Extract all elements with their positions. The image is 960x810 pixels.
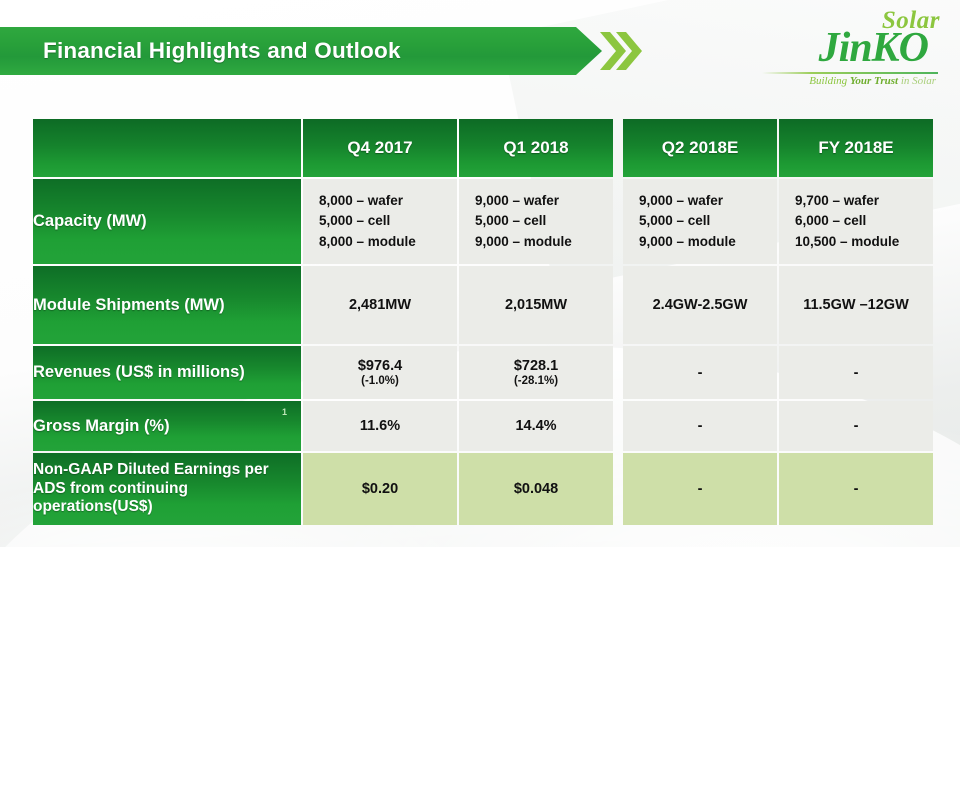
logo-tagline-post: in Solar [898, 75, 936, 87]
cell-line: 9,000 – wafer [639, 191, 777, 211]
column-gap [615, 179, 621, 264]
cell-line: 9,000 – wafer [475, 191, 613, 211]
cell-shipments-fy-2018e: 11.5GW –12GW [779, 266, 933, 344]
logo-tagline: Building Your Trust in Solar [809, 75, 936, 87]
cell-line: 6,000 – cell [795, 211, 933, 231]
cell-value: $728.1 [514, 358, 558, 374]
cell-revenues-q1-2018: $728.1 (-28.1%) [459, 346, 613, 399]
cell-line: 9,000 – module [475, 232, 613, 252]
row-label-text: Module Shipments (MW) [33, 296, 225, 314]
logo-tagline-pre: Building [809, 75, 850, 87]
double-chevron-right-icon [598, 29, 642, 73]
cell-gross-margin-q4-2017: 11.6% [303, 401, 457, 451]
cell-line: 8,000 – wafer [319, 191, 457, 211]
row-label-gross-margin: Gross Margin (%) 1 [33, 401, 301, 451]
page-title: Financial Highlights and Outlook [43, 27, 401, 75]
cell-non-gaap-q1-2018: $0.048 [459, 453, 613, 525]
cell-shipments-q2-2018e: 2.4GW-2.5GW [623, 266, 777, 344]
column-gap [615, 266, 621, 344]
cell-value: $976.4 [358, 358, 402, 374]
table-row: Gross Margin (%) 1 11.6% 14.4% - - [33, 401, 933, 451]
cell-non-gaap-q2-2018e: - [623, 453, 777, 525]
cell-line: 5,000 – cell [319, 211, 457, 231]
row-label-module-shipments: Module Shipments (MW) [33, 266, 301, 344]
column-header-q1-2018: Q1 2018 [459, 119, 613, 177]
row-label-non-gaap-eps: Non-GAAP Diluted Earnings per ADS from c… [33, 453, 301, 525]
cell-capacity-q2-2018e: 9,000 – wafer5,000 – cell9,000 – module [623, 179, 777, 264]
footnote-marker: 1 [282, 407, 287, 418]
column-gap [615, 119, 621, 177]
cell-line: 9,700 – wafer [795, 191, 933, 211]
title-banner: Financial Highlights and Outlook [0, 27, 645, 75]
table-row: Non-GAAP Diluted Earnings per ADS from c… [33, 453, 933, 525]
cell-subvalue: (-1.0%) [303, 375, 457, 387]
cell-line: 9,000 – module [639, 232, 777, 252]
cell-subvalue: (-28.1%) [459, 375, 613, 387]
row-label-text: Non-GAAP Diluted Earnings per ADS from c… [33, 461, 269, 516]
column-header-q2-2018e: Q2 2018E [623, 119, 777, 177]
jinko-solar-logo: Solar JinKO Building Your Trust in Solar [740, 6, 946, 92]
financial-highlights-table: Q4 2017 Q1 2018 Q2 2018E FY 2018E Capaci… [31, 117, 935, 527]
cell-gross-margin-q1-2018: 14.4% [459, 401, 613, 451]
cell-gross-margin-q2-2018e: - [623, 401, 777, 451]
row-label-revenues: Revenues (US$ in millions) [33, 346, 301, 399]
cell-capacity-q4-2017: 8,000 – wafer5,000 – cell8,000 – module [303, 179, 457, 264]
table-row: Revenues (US$ in millions) $976.4 (-1.0%… [33, 346, 933, 399]
row-label-text: Revenues (US$ in millions) [33, 363, 245, 381]
cell-non-gaap-q4-2017: $0.20 [303, 453, 457, 525]
cell-capacity-q1-2018: 9,000 – wafer5,000 – cell9,000 – module [459, 179, 613, 264]
column-gap [615, 401, 621, 451]
cell-line: 5,000 – cell [475, 211, 613, 231]
table-row: Module Shipments (MW) 2,481MW 2,015MW 2.… [33, 266, 933, 344]
cell-revenues-q4-2017: $976.4 (-1.0%) [303, 346, 457, 399]
logo-tagline-bold: Your Trust [850, 75, 898, 87]
logo-underline [762, 72, 938, 74]
row-label-capacity: Capacity (MW) [33, 179, 301, 264]
table-header-row: Q4 2017 Q1 2018 Q2 2018E FY 2018E [33, 119, 933, 177]
cell-gross-margin-fy-2018e: - [779, 401, 933, 451]
cell-shipments-q1-2018: 2,015MW [459, 266, 613, 344]
column-header-fy-2018e: FY 2018E [779, 119, 933, 177]
cell-non-gaap-fy-2018e: - [779, 453, 933, 525]
column-header-q4-2017: Q4 2017 [303, 119, 457, 177]
cell-capacity-fy-2018e: 9,700 – wafer6,000 – cell10,500 – module [779, 179, 933, 264]
cell-revenues-q2-2018e: - [623, 346, 777, 399]
logo-jinko-text: JinKO [819, 27, 928, 69]
column-gap [615, 346, 621, 399]
table-row: Capacity (MW) 8,000 – wafer5,000 – cell8… [33, 179, 933, 264]
cell-line: 8,000 – module [319, 232, 457, 252]
cell-shipments-q4-2017: 2,481MW [303, 266, 457, 344]
cell-revenues-fy-2018e: - [779, 346, 933, 399]
row-label-text: Gross Margin (%) [33, 417, 170, 435]
column-gap [615, 453, 621, 525]
cell-line: 5,000 – cell [639, 211, 777, 231]
cell-line: 10,500 – module [795, 232, 933, 252]
row-label-text: Capacity (MW) [33, 212, 147, 230]
header-blank-cell [33, 119, 301, 177]
